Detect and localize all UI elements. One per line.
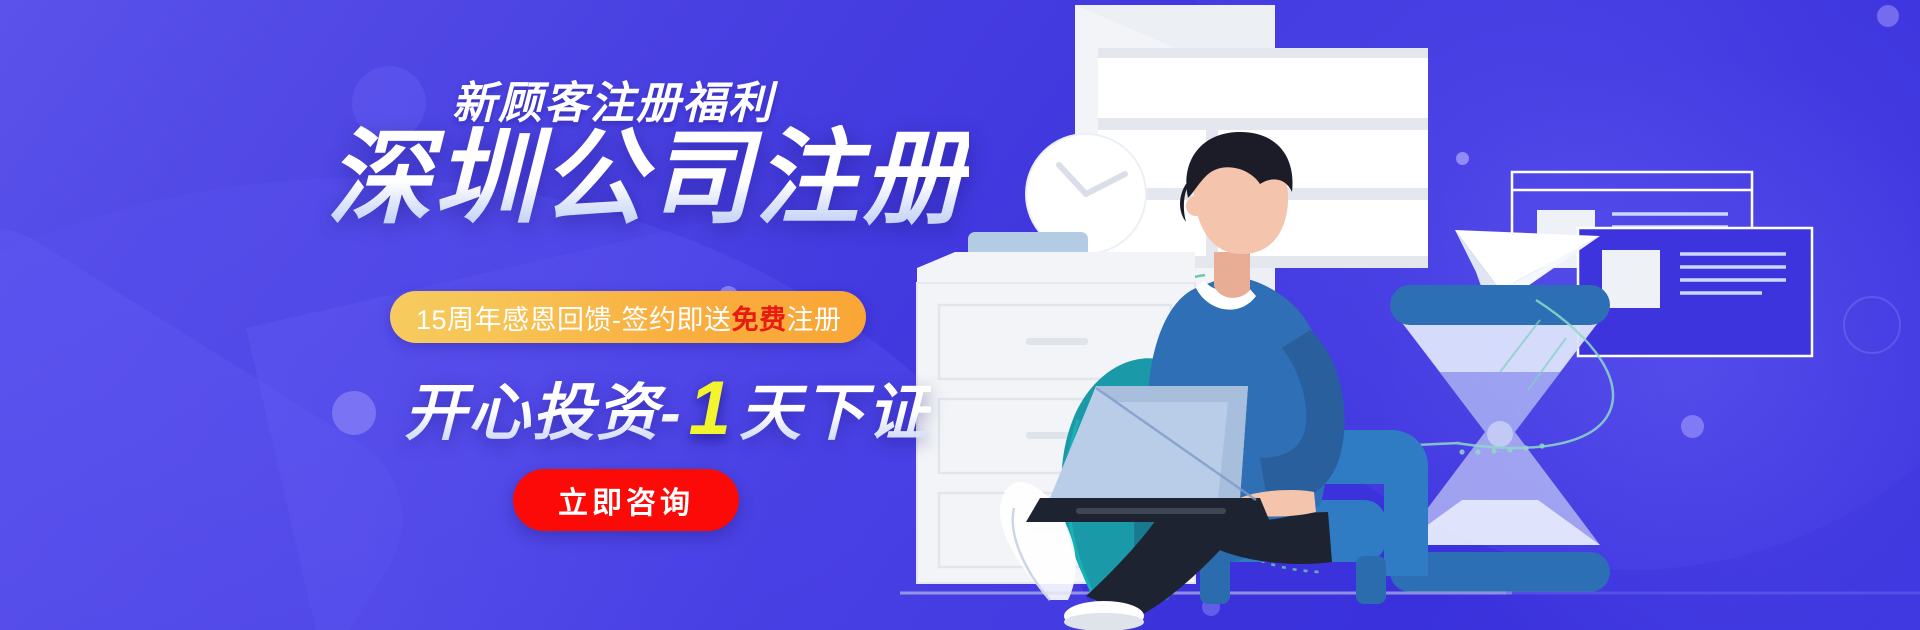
- subheadline-prefix: 开心投资-: [404, 362, 683, 452]
- promo-badge-prefix: 15周年感恩回馈-签约即送: [416, 298, 732, 337]
- promo-badge-highlight: 免费: [732, 298, 787, 337]
- illustration: [900, 0, 1920, 630]
- promo-banner: 新顾客注册福利 深圳公司注册 15周年感恩回馈-签约即送 免费 注册 开心投资-…: [0, 0, 1920, 630]
- subheadline-suffix: 天下证: [739, 362, 931, 452]
- hourglass-top-bar: [1390, 285, 1610, 325]
- subheadline-number: 1: [683, 365, 739, 452]
- document-card-front-icon: [1578, 228, 1812, 356]
- promo-badge: 15周年感恩回馈-签约即送 免费 注册: [390, 291, 866, 343]
- page-title: 深圳公司注册: [327, 125, 969, 234]
- subheadline: 开心投资- 1 天下证: [404, 362, 931, 452]
- consult-now-button[interactable]: 立即咨询: [513, 469, 739, 531]
- promo-badge-suffix: 注册: [787, 298, 842, 337]
- illustration-svg: [900, 0, 1920, 630]
- headline-copy-block: 新顾客注册福利 深圳公司注册 15周年感恩回馈-签约即送 免费 注册 开心投资-…: [0, 0, 960, 630]
